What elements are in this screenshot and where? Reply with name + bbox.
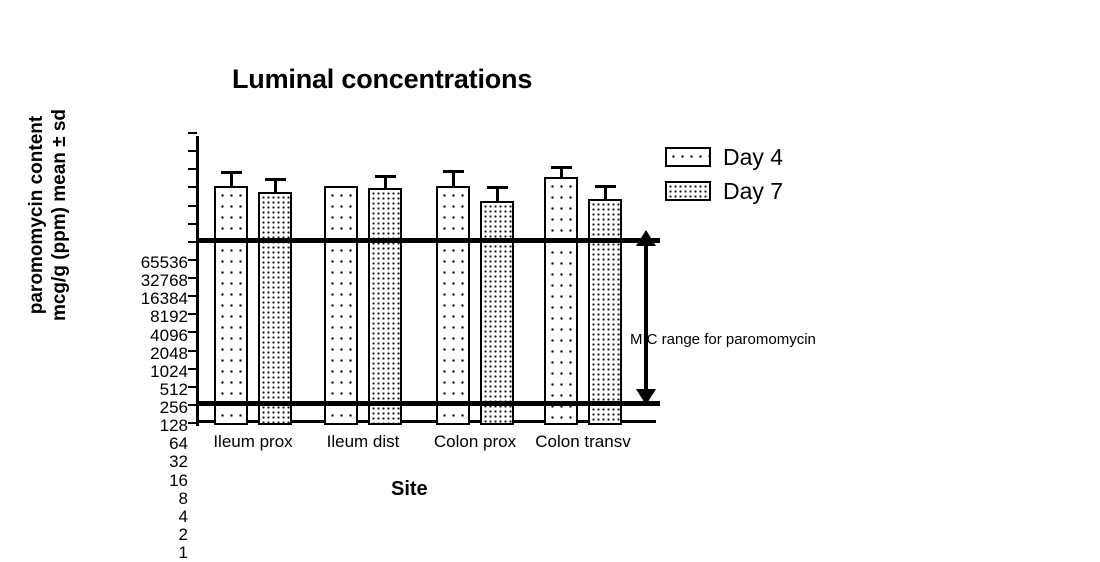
bar-ileum-dist-day-4[interactable] xyxy=(324,186,358,425)
mic-range-arrow-stem xyxy=(644,242,648,405)
error-bar-stem xyxy=(230,173,233,186)
y-axis-tick-labels: 6553632768163848192409620481024512256128… xyxy=(130,130,188,430)
bar-ileum-prox-day-4[interactable] xyxy=(214,186,248,425)
y-axis-title-line-2: mcg/g (ppm) mean ± sd xyxy=(48,100,71,330)
y-tick-label: 4 xyxy=(130,508,188,525)
legend-swatch-day-7-icon xyxy=(665,181,711,201)
y-tick xyxy=(188,295,197,297)
y-tick-label: 1 xyxy=(130,544,188,561)
legend-label-day-4: Day 4 xyxy=(723,146,783,169)
y-tick-label: 16384 xyxy=(130,290,188,307)
y-tick-label: 16 xyxy=(130,472,188,489)
y-tick xyxy=(188,205,197,207)
x-axis-title: Site xyxy=(391,478,428,501)
x-axis-label-ileum-prox: Ileum prox xyxy=(193,432,313,452)
legend-swatch-day-4-icon xyxy=(665,147,711,167)
y-tick xyxy=(188,259,197,261)
legend: Day 4 Day 7 xyxy=(665,140,783,208)
legend-item-day-4[interactable]: Day 4 xyxy=(665,140,783,174)
y-tick-label: 512 xyxy=(130,381,188,398)
y-tick-label: 2048 xyxy=(130,345,188,362)
chart-canvas: Luminal concentrations paromomycin conte… xyxy=(0,0,1100,522)
x-axis-label-colon-transv: Colon transv xyxy=(523,432,643,452)
mic-range-arrowhead-up-icon xyxy=(636,230,656,246)
chart-title: Luminal concentrations xyxy=(232,64,532,95)
error-bar-cap xyxy=(443,170,464,173)
y-tick xyxy=(188,313,197,315)
y-tick xyxy=(188,422,197,424)
plot-area xyxy=(196,130,656,425)
y-tick-label: 32768 xyxy=(130,272,188,289)
error-bar-stem xyxy=(274,180,277,192)
y-axis-title: paromomycin content mcg/g (ppm) mean ± s… xyxy=(25,100,85,330)
x-axis-label-colon-prox: Colon prox xyxy=(415,432,535,452)
y-tick-label: 65536 xyxy=(130,254,188,271)
bar-colon-prox-day-4[interactable] xyxy=(436,186,470,425)
y-tick-label: 64 xyxy=(130,435,188,452)
y-axis-line xyxy=(196,136,199,426)
y-tick xyxy=(188,368,197,370)
error-bar-stem xyxy=(496,188,499,202)
y-tick-label: 2 xyxy=(130,526,188,543)
bar-colon-prox-day-7[interactable] xyxy=(480,201,514,425)
y-tick-label: 1024 xyxy=(130,363,188,380)
reference-line-mic-upper xyxy=(196,238,660,243)
y-tick-label: 8 xyxy=(130,490,188,507)
mic-range-annotation-label: MIC range for paromomycin xyxy=(630,331,816,348)
y-axis-title-line-1: paromomycin content xyxy=(25,100,48,330)
bar-colon-transv-day-7[interactable] xyxy=(588,199,622,425)
y-tick xyxy=(188,186,197,188)
y-tick xyxy=(188,168,197,170)
y-tick xyxy=(188,350,197,352)
y-tick-label: 8192 xyxy=(130,308,188,325)
mic-range-arrowhead-down-icon xyxy=(636,389,656,405)
y-tick xyxy=(188,132,197,134)
bar-ileum-prox-day-7[interactable] xyxy=(258,192,292,425)
legend-item-day-7[interactable]: Day 7 xyxy=(665,174,783,208)
error-bar-stem xyxy=(560,168,563,177)
error-bar-cap xyxy=(551,166,572,169)
error-bar-cap xyxy=(375,175,396,178)
error-bar-cap xyxy=(221,171,242,174)
error-bar-stem xyxy=(452,172,455,186)
y-tick-label: 128 xyxy=(130,417,188,434)
bar-colon-transv-day-4[interactable] xyxy=(544,177,578,425)
error-bar-stem xyxy=(604,187,607,199)
y-tick xyxy=(188,277,197,279)
error-bar-cap xyxy=(487,186,508,189)
error-bar-cap xyxy=(265,178,286,181)
x-axis-label-ileum-dist: Ileum dist xyxy=(303,432,423,452)
error-bar-cap xyxy=(595,185,616,188)
y-tick-label: 256 xyxy=(130,399,188,416)
error-bar-stem xyxy=(384,177,387,188)
y-tick xyxy=(188,223,197,225)
reference-line-mic-lower xyxy=(196,401,660,406)
legend-label-day-7: Day 7 xyxy=(723,180,783,203)
y-tick-label: 32 xyxy=(130,453,188,470)
y-tick xyxy=(188,331,197,333)
bar-ileum-dist-day-7[interactable] xyxy=(368,188,402,425)
y-tick xyxy=(188,386,197,388)
y-tick xyxy=(188,150,197,152)
y-tick-label: 4096 xyxy=(130,327,188,344)
